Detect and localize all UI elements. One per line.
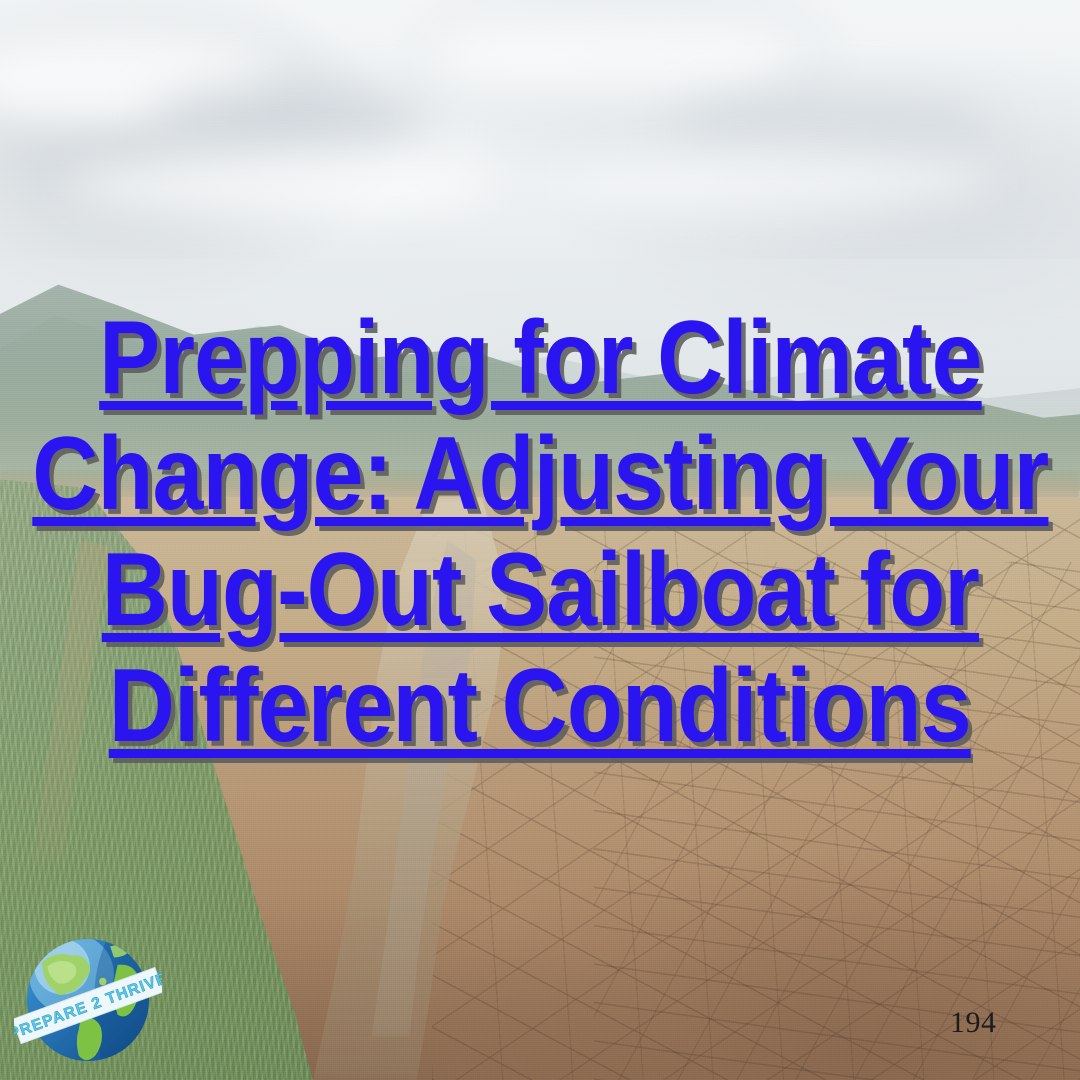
globe-icon: PREPARE 2 THRIVE [14,926,162,1074]
brand-logo[interactable]: PREPARE 2 THRIVE [14,926,162,1074]
page-number: 194 [950,1006,997,1040]
title-line-1: Prepping for Climate [99,300,981,416]
title-line-4: Different Conditions [109,648,971,764]
title-line-3: Bug-Out Sailboat for [101,532,978,648]
page-title: Prepping for Climate Change: Adjusting Y… [0,300,1080,764]
title-line-2: Change: Adjusting Your [32,416,1048,532]
title-card-canvas: Prepping for Climate Change: Adjusting Y… [0,0,1080,1080]
